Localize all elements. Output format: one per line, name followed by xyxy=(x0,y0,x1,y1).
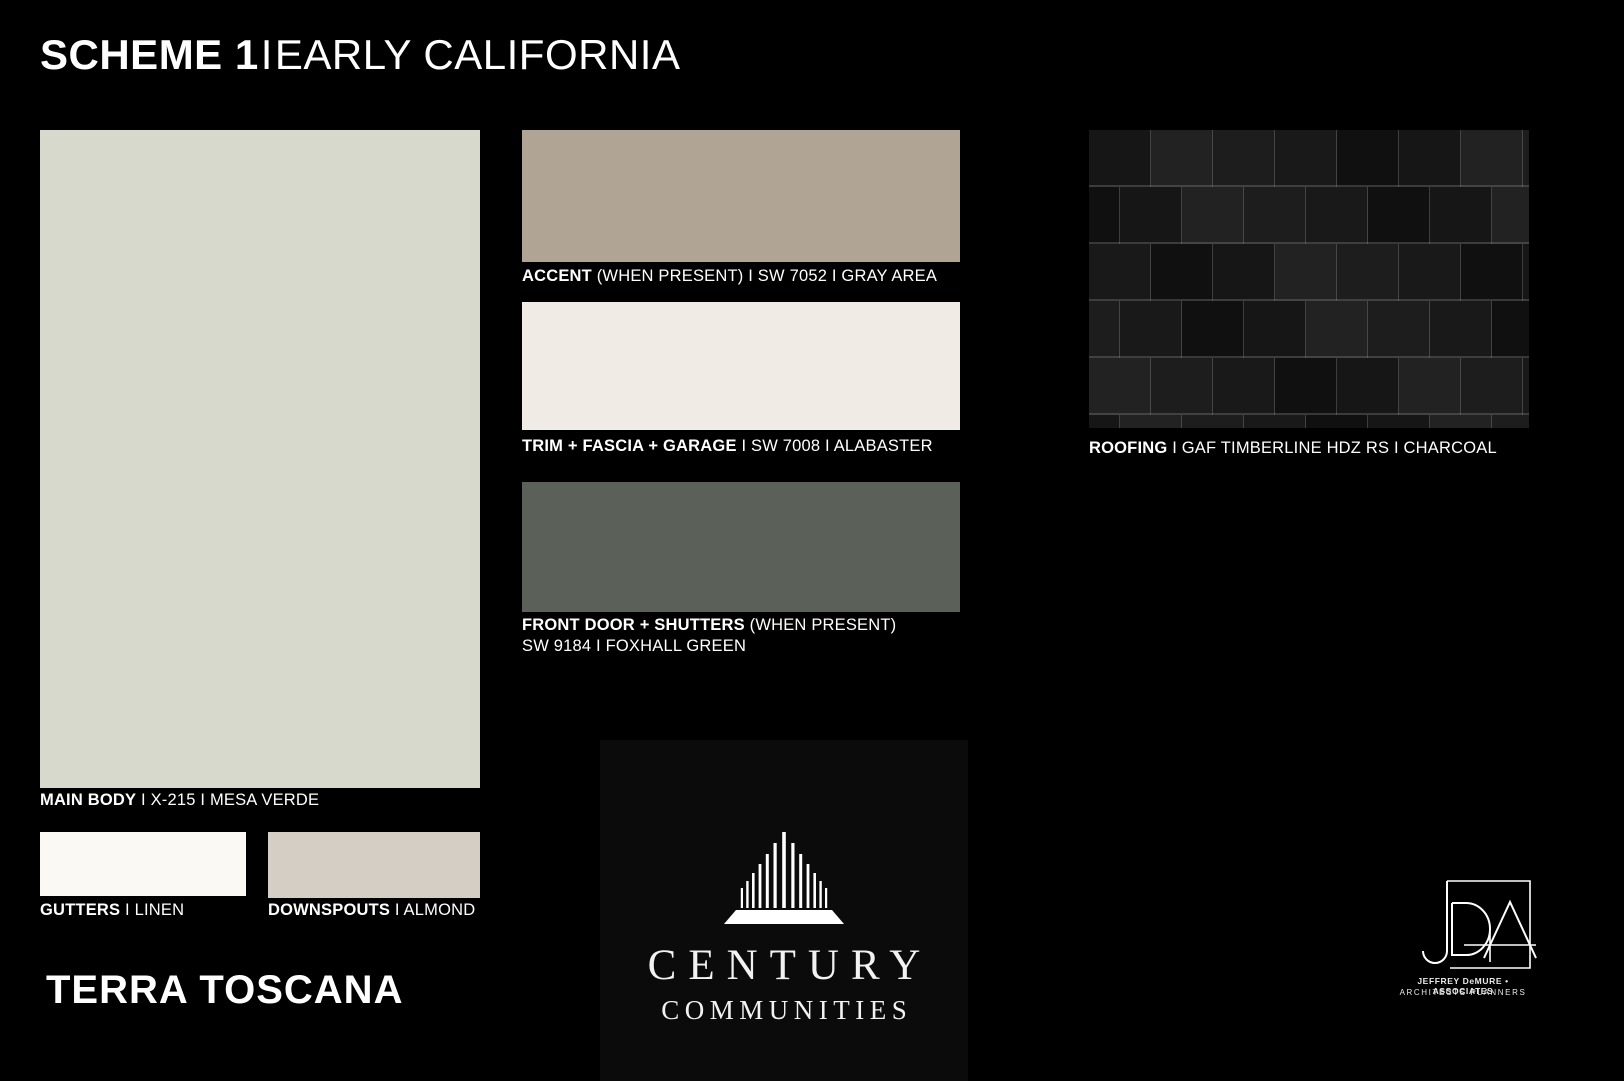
shingle-tab xyxy=(1492,415,1529,428)
shingle-tab xyxy=(1089,244,1151,301)
shingle-tab xyxy=(1461,358,1523,415)
century-communities-logo: CENTURY COMMUNITIES xyxy=(600,740,968,1081)
century-wordmark: CENTURY xyxy=(600,941,968,990)
shingle-tab xyxy=(1368,187,1430,244)
shingle-tab xyxy=(1368,301,1430,358)
caption-front-door-line2: SW 9184 I FOXHALL GREEN xyxy=(522,636,896,657)
jeffrey-demure-associates-logo: JEFFREY DeMURE • ASSOCIATES ARCHITECTS P… xyxy=(1388,872,1538,1008)
shingle-tab xyxy=(1306,187,1368,244)
caption-front-door-shutters: FRONT DOOR + SHUTTERS (WHEN PRESENT) SW … xyxy=(522,615,896,657)
shingle-tab xyxy=(1337,358,1399,415)
swatch-accent xyxy=(522,130,960,262)
shingle-tab xyxy=(1120,301,1182,358)
shingle-tab xyxy=(1182,415,1244,428)
page-title: SCHEME 1IEARLY CALIFORNIA xyxy=(40,32,680,78)
caption-main-body-name: MAIN BODY xyxy=(40,791,136,809)
shingle-tab xyxy=(1275,358,1337,415)
shingle-tab xyxy=(1089,358,1151,415)
caption-roofing: ROOFING I GAF TIMBERLINE HDZ RS I CHARCO… xyxy=(1089,438,1497,459)
caption-trim-detail: I SW 7008 I ALABASTER xyxy=(737,437,933,455)
shingle-tab xyxy=(1399,130,1461,187)
shingle-tab xyxy=(1430,301,1492,358)
shingle-tab xyxy=(1089,415,1120,428)
caption-front-door-name: FRONT DOOR + SHUTTERS xyxy=(522,616,745,634)
shingle-tab xyxy=(1461,244,1523,301)
shingle-tab xyxy=(1306,415,1368,428)
shingle-tab xyxy=(1368,415,1430,428)
century-subwordmark: COMMUNITIES xyxy=(600,995,968,1026)
caption-main-body-detail: I X-215 I MESA VERDE xyxy=(136,791,319,809)
caption-downspouts: DOWNSPOUTS I ALMOND xyxy=(268,900,475,921)
caption-trim-name: TRIM + FASCIA + GARAGE xyxy=(522,437,737,455)
shingle-tab xyxy=(1089,187,1120,244)
caption-roofing-detail: I GAF TIMBERLINE HDZ RS I CHARCOAL xyxy=(1167,439,1496,457)
caption-trim-fascia-garage: TRIM + FASCIA + GARAGE I SW 7008 I ALABA… xyxy=(522,436,933,457)
shingle-tab xyxy=(1120,187,1182,244)
shingle-tab xyxy=(1120,415,1182,428)
shingle-tab xyxy=(1492,187,1529,244)
shingle-tab xyxy=(1399,358,1461,415)
shingle-tab xyxy=(1244,415,1306,428)
caption-downspouts-detail: I ALMOND xyxy=(390,901,475,919)
shingle-tab xyxy=(1151,130,1213,187)
shingle-tab xyxy=(1430,415,1492,428)
caption-accent-detail: (WHEN PRESENT) I SW 7052 I GRAY AREA xyxy=(592,267,937,285)
swatch-front-door-shutters xyxy=(522,482,960,612)
shingle-tab xyxy=(1244,187,1306,244)
shingle-tab xyxy=(1399,244,1461,301)
shingle-tab xyxy=(1523,358,1529,415)
shingle-tab xyxy=(1151,244,1213,301)
shingle-tab xyxy=(1089,130,1151,187)
shingle-tab xyxy=(1523,130,1529,187)
shingle-tab xyxy=(1213,130,1275,187)
caption-roofing-name: ROOFING xyxy=(1089,439,1167,457)
title-separator: I xyxy=(259,31,275,78)
shingle-tab xyxy=(1151,358,1213,415)
shingle-tab xyxy=(1213,244,1275,301)
caption-gutters-name: GUTTERS xyxy=(40,901,120,919)
shingle-tab xyxy=(1337,130,1399,187)
shingle-tab xyxy=(1182,301,1244,358)
color-scheme-board: SCHEME 1IEARLY CALIFORNIA MAIN BODY I X-… xyxy=(0,0,1624,1081)
shingle-tab xyxy=(1461,130,1523,187)
shingle-tab xyxy=(1492,301,1529,358)
swatch-main-body xyxy=(40,130,480,788)
shingle-tab xyxy=(1523,244,1529,301)
swatch-gutters xyxy=(40,832,246,896)
shingle-tab xyxy=(1244,301,1306,358)
caption-accent-name: ACCENT xyxy=(522,267,592,285)
caption-gutters: GUTTERS I LINEN xyxy=(40,900,184,921)
scheme-number: SCHEME 1 xyxy=(40,31,259,78)
swatch-roofing-shingle-texture xyxy=(1089,130,1529,428)
swatch-trim-fascia-garage xyxy=(522,302,960,430)
shingle-tab xyxy=(1430,187,1492,244)
shingle-tab xyxy=(1182,187,1244,244)
caption-main-body: MAIN BODY I X-215 I MESA VERDE xyxy=(40,790,319,811)
shingle-tab xyxy=(1275,130,1337,187)
caption-downspouts-name: DOWNSPOUTS xyxy=(268,901,390,919)
swatch-downspouts xyxy=(268,832,480,898)
caption-gutters-detail: I LINEN xyxy=(120,901,184,919)
shingle-tab xyxy=(1337,244,1399,301)
century-building-icon xyxy=(724,830,844,928)
community-name: TERRA TOSCANA xyxy=(46,968,403,1013)
shingle-tab xyxy=(1089,301,1120,358)
scheme-name: EARLY CALIFORNIA xyxy=(275,31,681,78)
jda-monogram-icon xyxy=(1388,872,1538,976)
caption-front-door-line1: FRONT DOOR + SHUTTERS (WHEN PRESENT) xyxy=(522,615,896,636)
caption-front-door-detail: (WHEN PRESENT) xyxy=(745,616,897,634)
shingle-tab xyxy=(1213,358,1275,415)
jda-discipline: ARCHITECTS PLANNERS xyxy=(1388,988,1538,997)
shingle-tab xyxy=(1275,244,1337,301)
shingle-tab xyxy=(1306,301,1368,358)
caption-accent: ACCENT (WHEN PRESENT) I SW 7052 I GRAY A… xyxy=(522,266,937,287)
